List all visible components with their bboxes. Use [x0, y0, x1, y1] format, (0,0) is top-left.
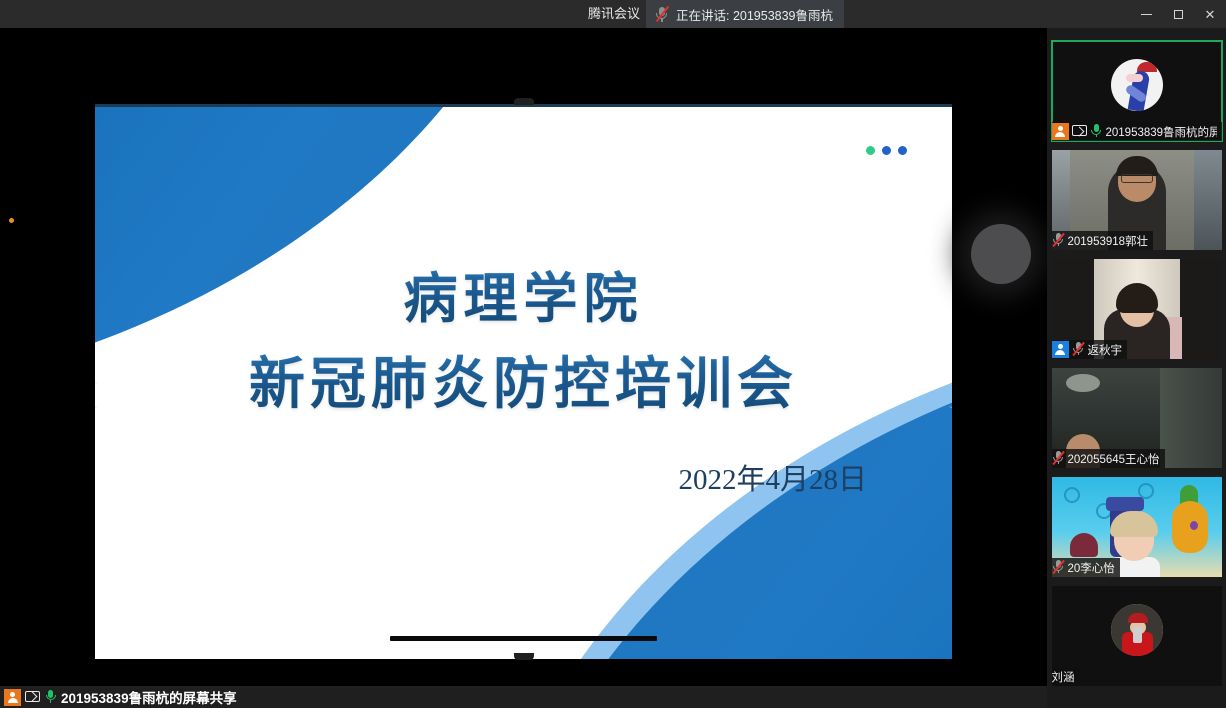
- participant-name: 201953839鲁雨杭的屏幕共...: [1106, 124, 1217, 140]
- participant-name: 202055645王心怡: [1068, 451, 1160, 467]
- slide-title-line-1: 病理学院: [95, 254, 952, 333]
- app-title: 腾讯会议: [588, 4, 640, 24]
- meeting-window: 腾讯会议 正在讲话: 201953839鲁雨杭 ✕: [0, 0, 1226, 708]
- slide-edge-marker-left: [95, 382, 98, 408]
- mic-muted-icon: [1052, 560, 1065, 576]
- presentation-slide: 病理学院 新冠肺炎防控培训会 2022年4月28日: [95, 104, 952, 659]
- participant-label: 201953918郭壮: [1052, 231, 1154, 250]
- active-speaker-label: 正在讲话: 201953839鲁雨杭: [676, 5, 833, 24]
- stage-notch-top: [514, 98, 534, 105]
- screen-share-icon: [1072, 125, 1087, 138]
- participant-tile[interactable]: 返秋宇: [1052, 259, 1222, 359]
- maximize-icon: [1174, 10, 1183, 19]
- mic-on-icon: [1090, 124, 1103, 140]
- participant-label: 202055645王心怡: [1052, 449, 1165, 468]
- recording-dot-icon: [9, 218, 14, 223]
- participant-label: 刘涵: [1052, 667, 1080, 686]
- slide-title-line-2: 新冠肺炎防控培训会: [95, 339, 952, 420]
- slide-title: 病理学院 新冠肺炎防控培训会: [95, 254, 952, 420]
- slide-date: 2022年4月28日: [678, 456, 867, 498]
- screen-share-status-bar: 201953839鲁雨杭的屏幕共享: [0, 686, 1047, 708]
- minimize-icon: [1141, 14, 1152, 15]
- slide-dot-1-icon: [866, 146, 875, 155]
- close-icon: ✕: [1205, 8, 1216, 21]
- participant-name: 201953918郭壮: [1068, 233, 1149, 249]
- minimize-button[interactable]: [1130, 0, 1162, 28]
- mic-muted-icon: [1052, 233, 1065, 249]
- screen-share-icon: [25, 691, 40, 704]
- participant-tile[interactable]: 刘涵: [1052, 586, 1222, 686]
- window-controls: ✕: [1130, 0, 1226, 28]
- host-badge-icon: [4, 689, 21, 706]
- mic-muted-icon: [654, 6, 669, 23]
- close-button[interactable]: ✕: [1194, 0, 1226, 28]
- participant-tile[interactable]: 201953839鲁雨杭的屏幕共...: [1052, 41, 1222, 141]
- participant-tile[interactable]: 201953918郭壮: [1052, 150, 1222, 250]
- maximize-button[interactable]: [1162, 0, 1194, 28]
- participant-sidebar[interactable]: 201953839鲁雨杭的屏幕共... 201953918郭壮 返秋宇: [1047, 28, 1226, 708]
- host-badge-icon: [1052, 123, 1069, 140]
- participant-tile[interactable]: 20李心怡: [1052, 477, 1222, 577]
- participant-label: 20李心怡: [1052, 558, 1120, 577]
- title-bar: 腾讯会议 正在讲话: 201953839鲁雨杭 ✕: [0, 0, 1226, 28]
- participant-tile[interactable]: 202055645王心怡: [1052, 368, 1222, 468]
- participant-label: 201953839鲁雨杭的屏幕共...: [1052, 122, 1222, 141]
- user-badge-icon: [1052, 341, 1069, 358]
- slide-underline-decoration: [390, 636, 657, 641]
- slide-edge-marker-right: [949, 382, 952, 408]
- mic-on-icon: [44, 689, 57, 705]
- mic-muted-icon: [1052, 451, 1065, 467]
- floating-toolbar-handle[interactable]: [971, 224, 1031, 284]
- participant-name: 刘涵: [1052, 669, 1075, 685]
- slide-dot-2-icon: [882, 146, 891, 155]
- avatar: [1111, 604, 1163, 656]
- participant-name: 返秋宇: [1088, 342, 1123, 358]
- mic-muted-icon: [1072, 342, 1085, 358]
- slide-dots-decoration: [866, 146, 907, 155]
- active-speaker-indicator: 正在讲话: 201953839鲁雨杭: [646, 0, 844, 28]
- participant-label: 返秋宇: [1052, 340, 1128, 359]
- participant-name: 20李心怡: [1068, 560, 1115, 576]
- slide-dot-3-icon: [898, 146, 907, 155]
- stage-notch-bottom: [514, 653, 534, 660]
- screen-share-label: 201953839鲁雨杭的屏幕共享: [61, 687, 237, 707]
- avatar: [1111, 59, 1163, 111]
- shared-screen-stage[interactable]: 病理学院 新冠肺炎防控培训会 2022年4月28日 201953839鲁雨杭的屏…: [0, 28, 1047, 708]
